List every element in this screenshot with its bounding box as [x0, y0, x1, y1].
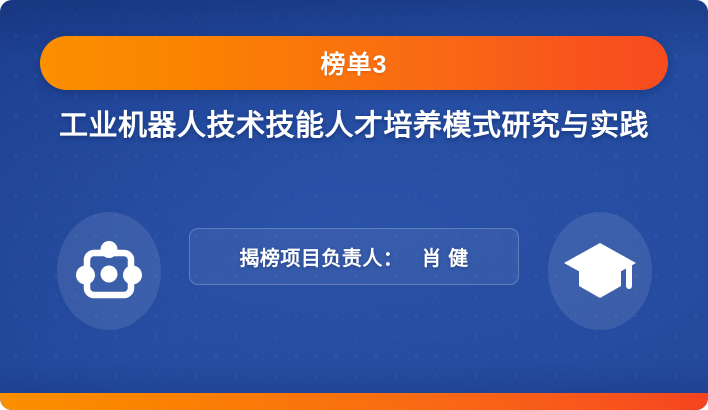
bottom-accent-strip	[0, 393, 708, 410]
robot-icon	[72, 234, 146, 308]
poster-card: 榜单3 工业机器人技术技能人才培养模式研究与实践 揭榜项目负责人： 肖 健	[0, 0, 708, 410]
leader-text: 揭榜项目负责人： 肖 健	[239, 242, 468, 271]
robot-icon-disc	[57, 212, 161, 330]
graduation-cap-icon	[562, 236, 638, 306]
rank-banner-label: 榜单3	[321, 45, 388, 81]
graduation-cap-icon-disc	[548, 212, 652, 330]
poster-title: 工业机器人技术技能人才培养模式研究与实践	[0, 102, 708, 144]
rank-banner: 榜单3	[40, 36, 668, 90]
leader-plate: 揭榜项目负责人： 肖 健	[189, 228, 519, 285]
